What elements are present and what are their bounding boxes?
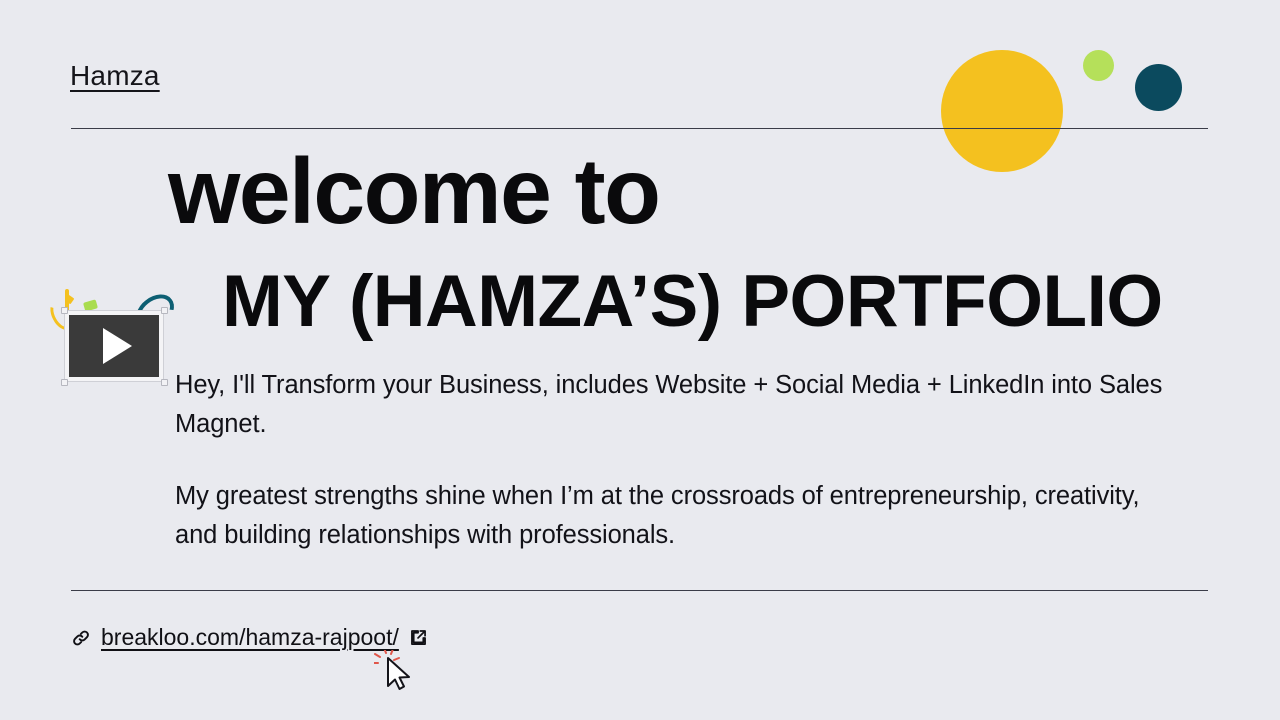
play-icon[interactable] bbox=[103, 328, 132, 364]
body-text-block: Hey, I'll Transform your Business, inclu… bbox=[175, 366, 1175, 555]
mouse-pointer-icon bbox=[374, 650, 428, 698]
selection-handle-top-right[interactable] bbox=[161, 307, 168, 314]
selection-handle-bottom-right[interactable] bbox=[161, 379, 168, 386]
external-link-icon[interactable] bbox=[408, 627, 429, 648]
body-paragraph-2: My greatest strengths shine when I’m at … bbox=[175, 477, 1175, 555]
video-thumbnail-image[interactable] bbox=[69, 315, 159, 377]
portfolio-url-link[interactable]: breakloo.com/hamza-rajpoot/ bbox=[101, 624, 399, 651]
top-divider bbox=[71, 128, 1208, 129]
large-yellow-circle bbox=[941, 50, 1063, 172]
selection-handle-top-left[interactable] bbox=[61, 307, 68, 314]
page-title-line1: welcome to bbox=[168, 145, 659, 238]
small-teal-circle bbox=[1135, 64, 1182, 111]
page-title-line2: MY (HAMZA’S) PORTFOLIO bbox=[222, 265, 1163, 338]
selection-handle-bottom-left[interactable] bbox=[61, 379, 68, 386]
body-paragraph-1: Hey, I'll Transform your Business, inclu… bbox=[175, 366, 1175, 444]
small-lime-circle bbox=[1083, 50, 1114, 81]
video-thumbnail-frame[interactable] bbox=[64, 310, 164, 382]
video-thumbnail-group[interactable] bbox=[26, 283, 201, 398]
author-name-label: Hamza bbox=[70, 60, 160, 92]
presentation-slide: Hamza welcome to MY (HAMZA’S) PORTFOLIO … bbox=[0, 0, 1280, 720]
chain-link-icon bbox=[70, 627, 92, 649]
footer-link-row[interactable]: breakloo.com/hamza-rajpoot/ bbox=[70, 624, 429, 651]
bottom-divider bbox=[71, 590, 1208, 591]
